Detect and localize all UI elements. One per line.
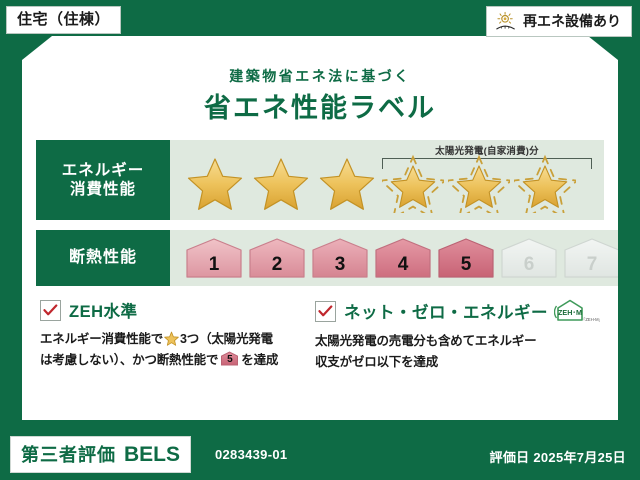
net-zero-desc-line1: 太陽光発電の売電分も含めてエネルギー xyxy=(315,334,536,348)
net-zero-title: ネット・ゼロ・エネルギー xyxy=(344,299,548,323)
star-filled-1 xyxy=(184,153,246,213)
bels-logo-text: BELS xyxy=(124,443,180,467)
insulation-level-7-number: 7 xyxy=(562,255,622,274)
third-party-eval-label: 第三者評価 xyxy=(21,441,116,467)
bels-certification-badge: 第三者評価 BELS xyxy=(10,436,191,473)
insulation-performance-body: 1 2 3 4 xyxy=(170,230,622,286)
sun-solar-icon xyxy=(495,11,517,31)
category-badge: 住宅（住棟） xyxy=(6,6,121,34)
evaluation-date-value: 2025年7月25日 xyxy=(533,450,626,465)
energy-label-line1: エネルギー xyxy=(62,161,145,180)
insulation-level-3-number: 3 xyxy=(310,255,370,274)
insulation-level-6-number: 6 xyxy=(499,255,559,274)
insulation-level-4: 4 xyxy=(373,237,433,279)
achievement-statements: ZEH水準 エネルギー消費性能で3つ（太陽光発電 は考慮しない）、かつ断熱性能で… xyxy=(40,298,600,372)
category-badge-label: 住宅（住棟） xyxy=(17,11,110,28)
star-solar-5 xyxy=(448,153,510,213)
net-zero-desc-line2: 収支がゼロ以下を達成 xyxy=(315,355,438,369)
insulation-performance-row: 断熱性能 xyxy=(36,230,604,286)
insulation-level-5: 5 xyxy=(436,237,496,279)
label-footer: 第三者評価 BELS 0283439-01 評価日 2025年7月25日 xyxy=(0,428,640,480)
insulation-performance-label: 断熱性能 xyxy=(36,230,170,286)
label-card: 建築物省エネ法に基づく 省エネ性能ラベル エネルギー 消費性能 太陽光発電(自家… xyxy=(22,36,618,420)
zeh-desc-starcount: 3つ（太陽光発電 xyxy=(180,332,273,346)
zeh-desc-part3: を達成 xyxy=(241,353,278,367)
insulation-level-4-number: 4 xyxy=(373,255,433,274)
statement-net-zero-energy: ネット・ゼロ・エネルギー ZEH･M 「ZEH-M」 太陽光発電の売電分も含めて… xyxy=(315,298,600,372)
zeh-standard-description: エネルギー消費性能で3つ（太陽光発電 は考慮しない）、かつ断熱性能で5を達成 xyxy=(40,329,301,370)
statement-zeh-standard: ZEH水準 エネルギー消費性能で3つ（太陽光発電 は考慮しない）、かつ断熱性能で… xyxy=(40,298,301,372)
star-solar-6 xyxy=(514,153,576,213)
net-zero-checkbox xyxy=(315,301,336,322)
zeh-m-logo-icon: ZEH･M 「ZEH-M」 xyxy=(554,298,600,324)
insulation-level-2-number: 2 xyxy=(247,255,307,274)
zeh-desc-part2: は考慮しない）、かつ断熱性能で xyxy=(40,353,218,367)
label-subtitle: 建築物省エネ法に基づく xyxy=(22,66,618,86)
evaluation-date-label: 評価日 xyxy=(490,450,530,465)
label-title: 省エネ性能ラベル xyxy=(22,86,618,125)
insulation-level-5-number: 5 xyxy=(436,255,496,274)
insulation-level-scale: 1 2 3 4 xyxy=(170,237,622,279)
star-solar-4 xyxy=(382,153,444,213)
svg-text:「ZEH-M」: 「ZEH-M」 xyxy=(581,317,600,322)
energy-label-root: 住宅（住棟） 再エネ設備あ xyxy=(0,0,640,480)
net-zero-description: 太陽光発電の売電分も含めてエネルギー 収支がゼロ以下を達成 xyxy=(315,331,600,372)
star-filled-3 xyxy=(316,153,378,213)
insulation-level-3: 3 xyxy=(310,237,370,279)
zeh-desc-part1: エネルギー消費性能で xyxy=(40,332,163,346)
energy-star-rating xyxy=(170,153,576,213)
inline-star-icon xyxy=(164,331,179,346)
insulation-label-text: 断熱性能 xyxy=(69,248,137,268)
zeh-standard-title: ZEH水準 xyxy=(69,298,138,322)
insulation-level-1: 1 xyxy=(184,237,244,279)
renewable-badge-label: 再エネ設備あり xyxy=(523,14,621,28)
energy-performance-body: 太陽光発電(自家消費)分 xyxy=(170,140,604,220)
renewable-equipment-badge: 再エネ設備あり xyxy=(486,6,632,37)
zeh-standard-checkbox xyxy=(40,300,61,321)
energy-performance-row: エネルギー 消費性能 太陽光発電(自家消費)分 xyxy=(36,140,604,220)
inline-level-badge: 5 xyxy=(220,351,239,366)
insulation-level-6: 6 xyxy=(499,237,559,279)
evaluation-date: 評価日 2025年7月25日 xyxy=(490,447,626,466)
energy-label-line2: 消費性能 xyxy=(70,180,136,199)
insulation-level-1-number: 1 xyxy=(184,255,244,274)
svg-text:ZEH･M: ZEH･M xyxy=(558,308,582,317)
insulation-level-2: 2 xyxy=(247,237,307,279)
inline-badge-number: 5 xyxy=(220,355,239,365)
energy-performance-label: エネルギー 消費性能 xyxy=(36,140,170,220)
registration-number: 0283439-01 xyxy=(215,447,287,462)
insulation-level-7: 7 xyxy=(562,237,622,279)
star-filled-2 xyxy=(250,153,312,213)
